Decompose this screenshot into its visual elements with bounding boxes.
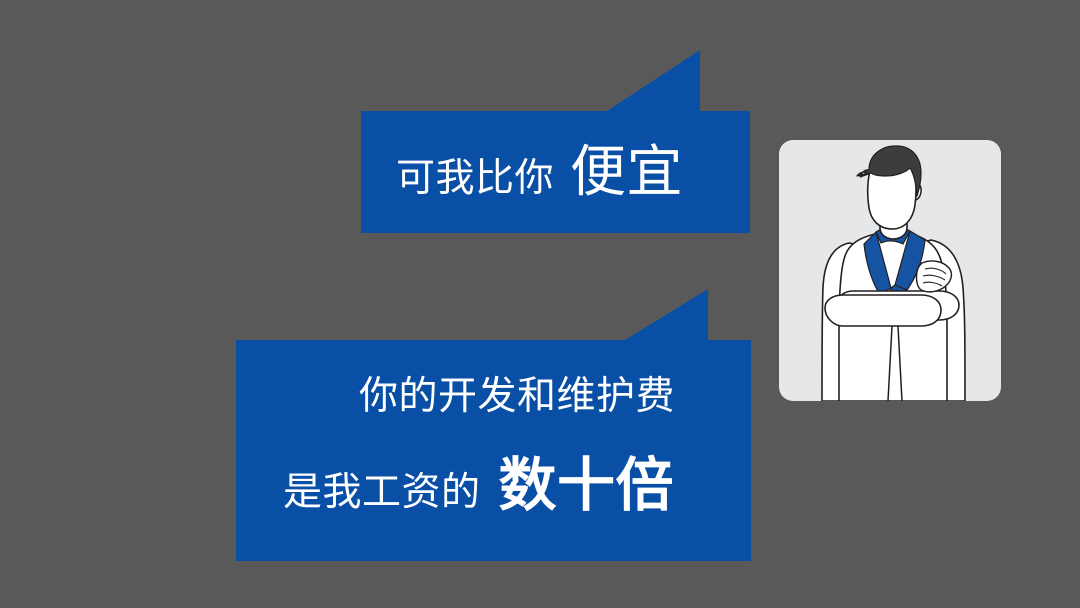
- speech-bubble-bottom-line-2: 是我工资的 数十倍: [283, 457, 674, 515]
- bubble1-segment-emphasis: 便宜: [570, 144, 683, 200]
- businessman-illustration: [779, 140, 1001, 401]
- speech-bubble-top-shape: [361, 50, 750, 233]
- speech-bubble-bottom-line-1: 你的开发和维护费: [359, 377, 675, 416]
- slide-canvas: 可我比你 便宜 你的开发和维护费 是我工资的 数十倍: [0, 0, 1080, 608]
- bubble1-segment-normal: 可我比你: [396, 159, 554, 198]
- speech-bubble-bottom-shape: [236, 289, 751, 561]
- forearm-upper: [825, 295, 941, 326]
- bubble2-segment-normal: 是我工资的: [283, 473, 481, 512]
- illustration-panel: [779, 140, 1001, 401]
- speech-bubble-top-text: 可我比你 便宜: [396, 144, 683, 200]
- bubble2-segment-emphasis: 数十倍: [499, 457, 675, 515]
